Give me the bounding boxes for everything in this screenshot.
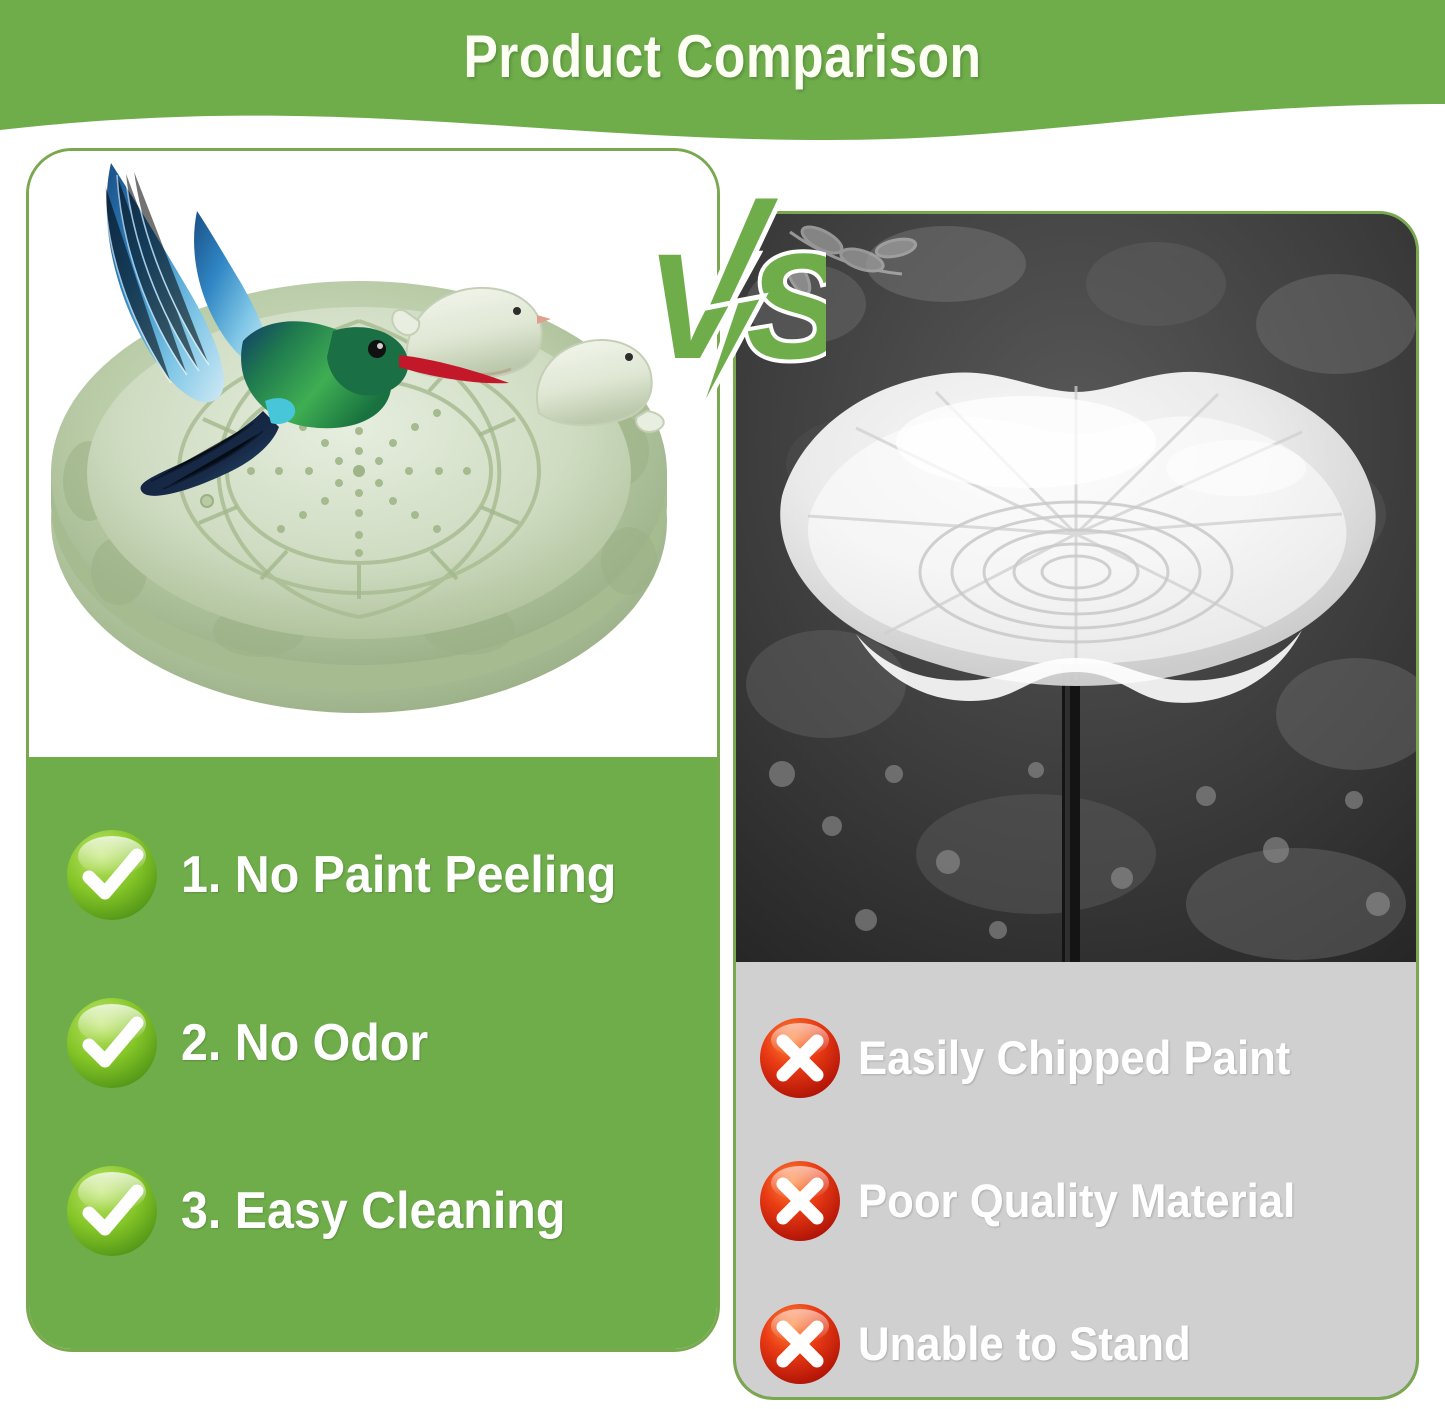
- list-item: Poor Quality Material: [758, 1129, 1416, 1272]
- right-product-photo: [736, 214, 1416, 962]
- glass-birdbath-illustration: [736, 214, 1416, 962]
- ceramic-birdbath-illustration: [29, 151, 717, 757]
- cross-icon: [758, 1159, 842, 1243]
- cross-icon: [758, 1016, 842, 1100]
- pro-label: 2. No Odor: [181, 1013, 428, 1073]
- con-label: Poor Quality Material: [858, 1173, 1295, 1228]
- left-product-photo: [29, 151, 717, 757]
- cross-icon: [758, 1302, 842, 1386]
- vs-badge: VS: [636, 190, 826, 430]
- pro-label: 1. No Paint Peeling: [181, 845, 616, 905]
- pro-label: 3. Easy Cleaning: [181, 1181, 565, 1241]
- check-icon: [65, 1164, 159, 1258]
- con-label: Unable to Stand: [858, 1316, 1191, 1371]
- left-product-card: 1. No Paint Peeling 2. No Odor 3. Easy: [26, 148, 720, 1352]
- check-icon: [65, 996, 159, 1090]
- list-item: 2. No Odor: [65, 959, 717, 1127]
- right-product-card: Easily Chipped Paint Poor Quality Materi…: [733, 211, 1419, 1400]
- list-item: Unable to Stand: [758, 1272, 1416, 1400]
- list-item: 3. Easy Cleaning: [65, 1127, 717, 1295]
- pros-list: 1. No Paint Peeling 2. No Odor 3. Easy: [29, 757, 717, 1349]
- page-title: Product Comparison: [101, 22, 1344, 91]
- con-label: Easily Chipped Paint: [858, 1030, 1290, 1085]
- list-item: 1. No Paint Peeling: [65, 791, 717, 959]
- list-item: Easily Chipped Paint: [758, 986, 1416, 1129]
- cons-list: Easily Chipped Paint Poor Quality Materi…: [736, 962, 1416, 1397]
- check-icon: [65, 828, 159, 922]
- header-banner: Product Comparison: [0, 0, 1445, 150]
